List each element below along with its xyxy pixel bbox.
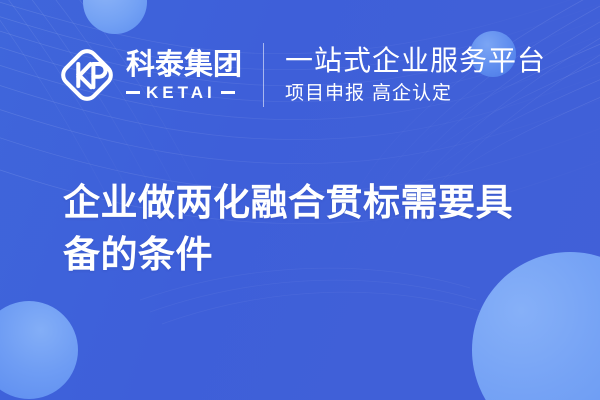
header-divider [263,43,264,107]
decor-circle-bottom-left [0,301,78,399]
wordmark-right-rule-icon [221,91,235,94]
brand-wordmark: 科泰集团 KETAI [126,50,242,101]
tagline-block: 一站式企业服务平台 项目申报 高企认定 [285,46,546,103]
brand-name-en: KETAI [146,84,216,101]
wordmark-left-rule-icon [126,91,140,94]
decor-circle-top [83,0,147,34]
promo-banner: 科泰集团 KETAI 一站式企业服务平台 项目申报 高企认定 企业做两化融合贯标… [0,0,600,400]
tagline-main: 一站式企业服务平台 [285,46,546,76]
ketai-diamond-kd-logo-icon [58,46,116,104]
tagline-sub: 项目申报 高企认定 [285,83,546,104]
brand-name-cn: 科泰集团 [126,50,242,79]
page-title: 企业做两化融合贯标需要具备的条件 [63,177,541,282]
brand-name-en-row: KETAI [126,84,242,101]
brand-logo[interactable]: 科泰集团 KETAI [58,38,242,112]
banner-header: 科泰集团 KETAI 一站式企业服务平台 项目申报 高企认定 [58,38,546,112]
